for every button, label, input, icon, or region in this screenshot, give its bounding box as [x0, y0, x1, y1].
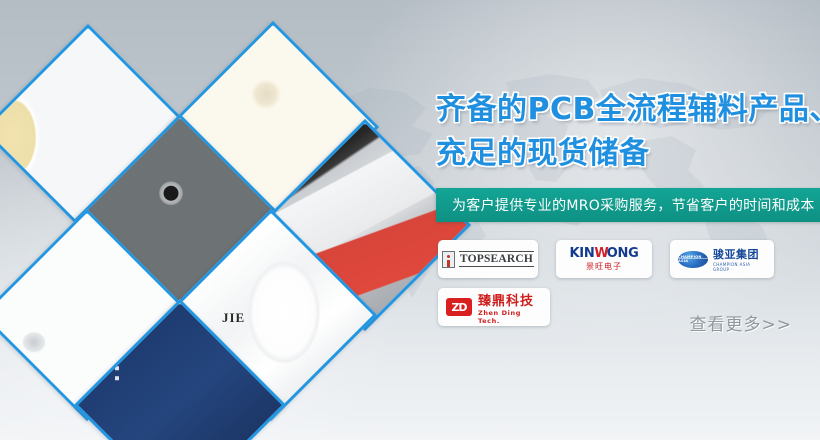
- topsearch-mark-icon: [442, 251, 455, 268]
- champion-asia-globe-text: CHAMPION ASIA: [678, 255, 708, 263]
- champion-asia-globe-icon: CHAMPION ASIA: [678, 251, 708, 268]
- zhen-ding-mark-icon: ZD: [446, 298, 472, 316]
- kinwong-label-accent: W: [594, 246, 606, 261]
- release-paper-brand-text: JIE: [222, 310, 245, 326]
- promo-banner: JIE 齐备的PCB全流程辅料产品、 充足的现货储备 为客户提供专业的MRO采购…: [0, 0, 820, 440]
- kinwong-sublabel: 景旺电子: [586, 261, 622, 272]
- zhen-ding-en-label: Zhen Ding Tech.: [478, 309, 542, 325]
- zhen-ding-text-block: 臻鼎科技 Zhen Ding Tech.: [478, 290, 542, 325]
- product-diamond-mosaic: JIE: [0, 0, 420, 440]
- logo-card-zhen-ding[interactable]: ZD 臻鼎科技 Zhen Ding Tech.: [438, 288, 550, 326]
- banner-content: 齐备的PCB全流程辅料产品、 充足的现货储备 为客户提供专业的MRO采购服务，节…: [432, 0, 820, 440]
- headline-line-2: 充足的现货储备: [436, 132, 820, 176]
- logo-card-kinwong[interactable]: KINWONG 景旺电子: [556, 240, 652, 278]
- kinwong-label-head: KIN: [570, 246, 595, 261]
- banner-subtitle-text: 为客户提供专业的MRO采购服务，节省客户的时间和成本: [436, 195, 815, 215]
- champion-asia-en-label: CHAMPION ASIA GROUP: [713, 262, 766, 272]
- logo-card-champion-asia[interactable]: CHAMPION ASIA 骏亚集团 CHAMPION ASIA GROUP: [670, 240, 774, 278]
- zhen-ding-cn-label: 臻鼎科技: [478, 290, 542, 309]
- kinwong-label: KINWONG: [570, 247, 639, 261]
- champion-asia-text-block: 骏亚集团 CHAMPION ASIA GROUP: [713, 246, 766, 272]
- kinwong-label-tail: ONG: [607, 246, 639, 261]
- view-more-link[interactable]: 查看更多>>: [690, 310, 793, 335]
- topsearch-label: TOPSEARCH: [459, 251, 534, 267]
- logo-row-1: TOPSEARCH KINWONG 景旺电子 CHAMPION ASIA 骏亚集…: [438, 240, 820, 278]
- banner-subtitle-bar: 为客户提供专业的MRO采购服务，节省客户的时间和成本: [436, 188, 820, 222]
- logo-card-topsearch[interactable]: TOPSEARCH: [438, 240, 538, 278]
- headline-line-1: 齐备的PCB全流程辅料产品、: [436, 88, 820, 132]
- champion-asia-cn-label: 骏亚集团: [713, 246, 766, 262]
- banner-headline: 齐备的PCB全流程辅料产品、 充足的现货储备: [436, 88, 820, 176]
